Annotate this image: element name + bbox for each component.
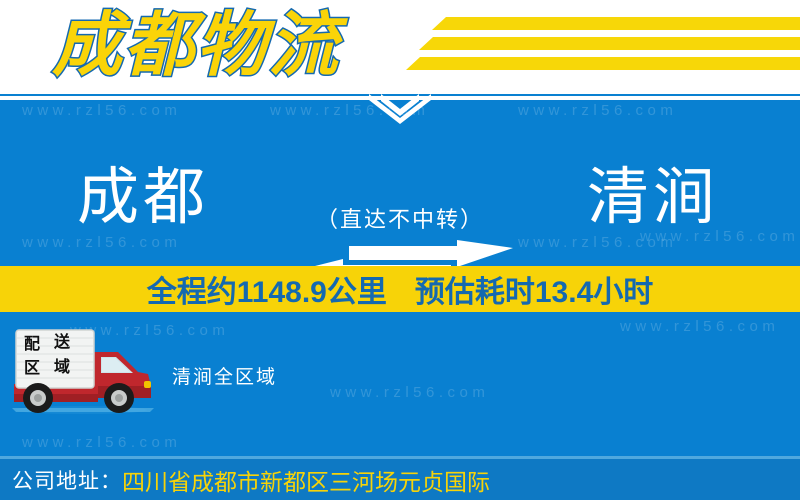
- logistics-banner: 成都物流 www.rzl56.com www.rzl56.com www.rzl…: [0, 0, 800, 500]
- truck-box-char-2: 送: [54, 335, 70, 351]
- truck-box-char-1: 配: [24, 337, 40, 353]
- banner-body: www.rzl56.com www.rzl56.com www.rzl56.co…: [0, 94, 800, 500]
- watermark-text: www.rzl56.com: [22, 434, 181, 451]
- trip-info-bar: 全程约1148.9公里 预估耗时13.4小时: [0, 266, 800, 312]
- company-address-bar: 公司地址： 四川省成都市新都区三河场元贞国际: [0, 459, 800, 500]
- banner-header: 成都物流: [0, 0, 800, 94]
- header-stripe-2: [419, 37, 800, 50]
- delivery-row: 配 送 区 域 清涧全区域: [0, 322, 800, 422]
- origin-city: 成都: [28, 156, 258, 240]
- direct-shipping-label: （直达不中转）: [275, 202, 525, 234]
- watermark-text: www.rzl56.com: [518, 102, 677, 119]
- brand-title: 成都物流: [52, 2, 340, 88]
- double-chevron-down-icon: [368, 94, 432, 128]
- header-stripe-3: [406, 57, 800, 70]
- address-value: 四川省成都市新都区三河场元贞国际: [122, 463, 490, 497]
- destination-city: 清涧: [538, 156, 768, 240]
- route-row: 成都 清涧 （直达不中转） 【往返运输】: [0, 156, 800, 266]
- coverage-area-text: 清涧全区域: [172, 362, 277, 389]
- duration-text: 预估耗时13.4小时: [415, 267, 653, 311]
- distance-text: 全程约1148.9公里: [147, 267, 387, 311]
- truck-box-char-3: 区: [24, 361, 40, 377]
- address-label: 公司地址：: [12, 465, 122, 495]
- watermark-text: www.rzl56.com: [22, 102, 181, 119]
- header-stripe-1: [432, 17, 800, 30]
- delivery-truck-icon: 配 送 区 域: [6, 324, 156, 416]
- truck-box-char-4: 域: [54, 360, 70, 376]
